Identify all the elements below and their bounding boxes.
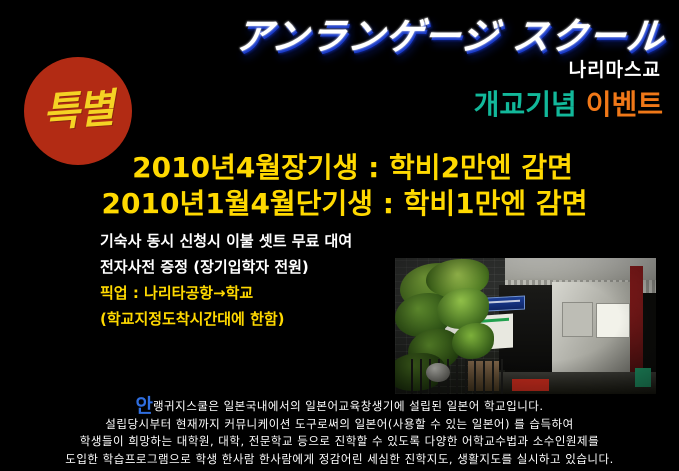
benefit-item-pickup-note: (학교지정도착시간대에 한함) <box>100 306 400 332</box>
photo-scene <box>395 258 656 394</box>
benefit-item-dictionary: 전자사전 증정 (장기입학자 전원) <box>100 254 400 280</box>
photo-vignette <box>395 258 656 394</box>
description-line-1: 안랭귀지스쿨은 일본국내에서의 일본어교육창생기에 설립된 일본어 학교입니다. <box>18 398 661 416</box>
special-stamp-label: 특별 <box>42 89 114 134</box>
description-line-1-text: 랭귀지스쿨은 일본국내에서의 일본어교육창생기에 설립된 일본어 학교입니다. <box>153 399 544 413</box>
event-prefix-label: 개교기념 <box>474 88 577 121</box>
description-lead-char: 안 <box>135 395 152 417</box>
description-line-3: 학생들이 희망하는 대학원, 대학, 전문학교 등으로 진학할 수 있도록 다양… <box>18 433 661 451</box>
promo-headline-1: 2010년4월장기생 : 학비2만엔 감면 <box>0 146 679 186</box>
event-suffix-label: 이벤트 <box>586 88 663 121</box>
benefit-item-dormitory: 기숙사 동시 신청시 이불 셋트 무료 대여 <box>100 228 400 254</box>
promo-headline-2: 2010년1월4월단기생 : 학비1만엔 감면 <box>0 182 679 222</box>
benefits-list: 기숙사 동시 신청시 이불 셋트 무료 대여 전자사전 증정 (장기입학자 전원… <box>100 228 400 332</box>
school-entrance-photo <box>395 258 656 394</box>
benefit-item-pickup: 픽업 : 나리타공항→학교 <box>100 280 400 306</box>
school-description: 안랭귀지스쿨은 일본국내에서의 일본어교육창생기에 설립된 일본어 학교입니다.… <box>0 398 679 468</box>
description-line-2: 설립당시부터 현재까지 커뮤니케이션 도구로써의 일본어(사용할 수 있는 일본… <box>18 416 661 434</box>
brand-title: アンランゲージ スクール <box>0 6 679 60</box>
description-line-4: 도입한 학습프로그램으로 학생 한사람 한사람에게 정감어린 세심한 진학지도,… <box>18 451 661 469</box>
